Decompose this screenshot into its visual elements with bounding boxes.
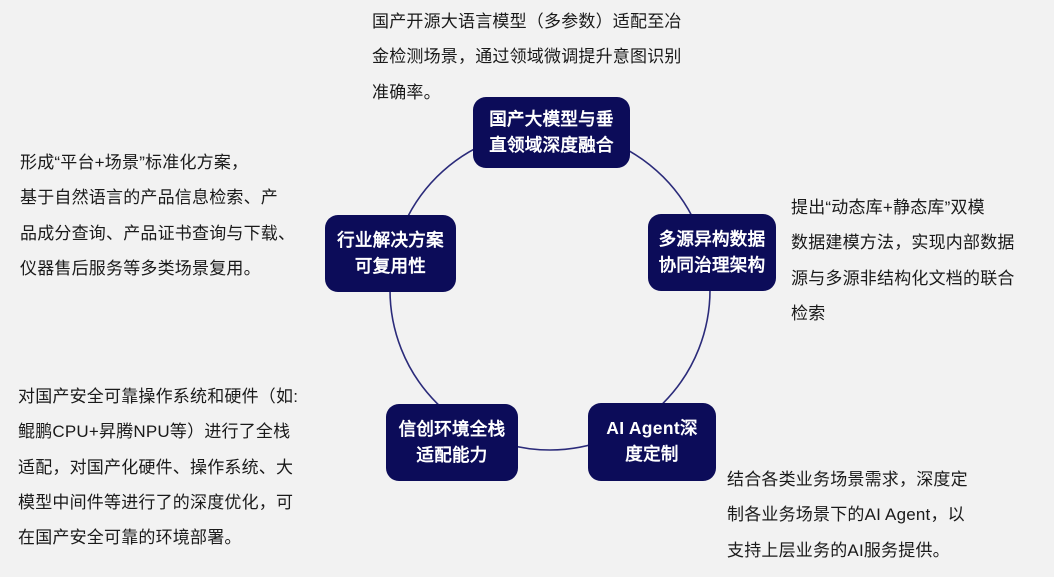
caption-multisource-data-governance: 提出“动态库+静态库”双模 数据建模方法，实现内部数据 源与多源非结构化文档的联… bbox=[791, 190, 1041, 331]
diagram-canvas: 国产大模型与垂 直领域深度融合 多源异构数据 协同治理架构 AI Agent深 … bbox=[0, 0, 1054, 577]
node-ai-agent-customization[interactable]: AI Agent深 度定制 bbox=[588, 403, 716, 481]
node-multisource-data-governance[interactable]: 多源异构数据 协同治理架构 bbox=[648, 214, 776, 291]
node-xinchuang-fullstack-adaptation[interactable]: 信创环境全栈 适配能力 bbox=[386, 404, 518, 481]
caption-ai-agent-customization: 结合各类业务场景需求，深度定 制各业务场景下的AI Agent，以 支持上层业务… bbox=[727, 462, 1002, 568]
caption-xinchuang-fullstack-adaptation: 对国产安全可靠操作系统和硬件（如: 鲲鹏CPU+昇腾NPU等）进行了全栈 适配，… bbox=[18, 379, 328, 556]
caption-industry-solution-reusability: 形成“平台+场景”标准化方案， 基于自然语言的产品信息检索、产 品成分查询、产品… bbox=[20, 145, 320, 286]
node-industry-solution-reusability[interactable]: 行业解决方案 可复用性 bbox=[325, 215, 456, 292]
caption-domestic-llm-vertical-fusion: 国产开源大语言模型（多参数）适配至冶 金检测场景，通过领域微调提升意图识别 准确… bbox=[372, 4, 717, 110]
